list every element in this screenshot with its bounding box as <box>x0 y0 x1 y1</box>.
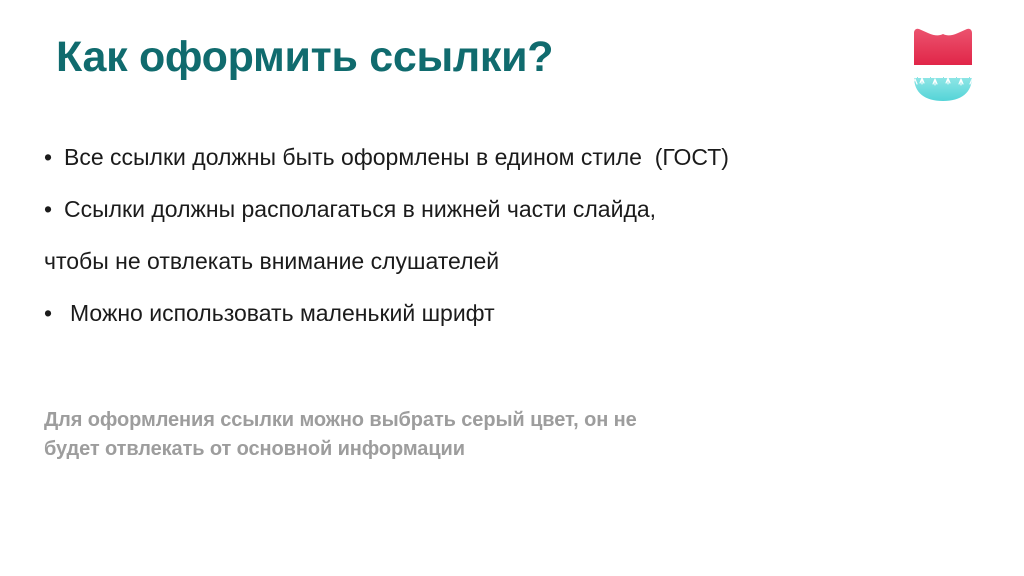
emblem-logo <box>908 27 978 103</box>
list-item-text: Можно использовать маленький шрифт <box>70 302 495 325</box>
list-item-continuation-text: чтобы не отвлекать внимание слушателей <box>44 250 499 273</box>
page-title: Как оформить ссылки? <box>56 34 553 80</box>
gray-note-line: будет отвлекать от основной информации <box>44 435 944 464</box>
list-item-text: Все ссылки должны быть оформлены в едино… <box>64 146 729 169</box>
bullet-list: • Все ссылки должны быть оформлены в еди… <box>44 146 944 325</box>
bullet-marker: • <box>44 302 70 325</box>
bullet-marker: • <box>44 198 64 221</box>
logo-bottom-band <box>908 77 978 103</box>
presentation-slide: Как оформить ссылки? <box>0 0 1024 576</box>
list-item-text: Ссылки должны располагаться в нижней час… <box>64 198 656 221</box>
list-item: • Все ссылки должны быть оформлены в еди… <box>44 146 944 169</box>
list-item: • Можно использовать маленький шрифт <box>44 302 944 325</box>
gray-note-line: Для оформления ссылки можно выбрать серы… <box>44 406 944 435</box>
list-item: • Ссылки должны располагаться в нижней ч… <box>44 198 944 221</box>
logo-top-band <box>908 27 978 67</box>
gray-note: Для оформления ссылки можно выбрать серы… <box>44 406 944 464</box>
bullet-marker: • <box>44 146 64 169</box>
list-item-continuation: чтобы не отвлекать внимание слушателей <box>44 250 944 273</box>
